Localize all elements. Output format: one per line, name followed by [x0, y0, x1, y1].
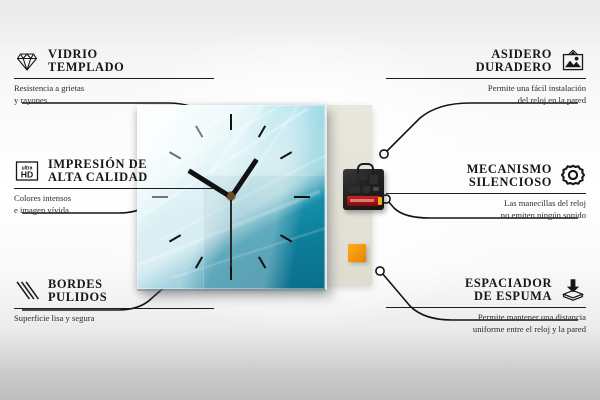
polished-edges-icon [14, 278, 40, 304]
feature-espaciador-de-espuma: ESPACIADOR DE ESPUMA Permite mantener un… [386, 277, 586, 335]
svg-text:HD: HD [21, 170, 33, 180]
mechanism-battery [347, 196, 380, 206]
connector-asidero [386, 103, 578, 152]
feature-title-line2: DE ESPUMA [465, 290, 552, 303]
feature-asidero-duradero: ASIDERO DURADERO Permite una fácil insta… [386, 48, 586, 106]
feature-mecanismo-silencioso: MECANISMO SILENCIOSO Las manecillas del … [386, 163, 586, 221]
clock-mechanism [343, 169, 384, 210]
feature-divider [14, 308, 214, 309]
feature-title-line2: TEMPLADO [48, 61, 124, 74]
feature-divider [386, 78, 586, 79]
feature-description: Permite mantener una distancia uniforme … [386, 312, 586, 335]
feature-divider [14, 78, 214, 79]
mechanism-hook [357, 163, 374, 174]
feature-description: Las manecillas del reloj no emiten ningú… [386, 198, 586, 221]
feature-description: Permite una fácil instalación del reloj … [386, 83, 586, 106]
feature-vidrio-templado: VIDRIO TEMPLADO Resistencia a grietas y … [14, 48, 214, 106]
picture-hanger-icon [560, 48, 586, 74]
gear-icon [560, 163, 586, 189]
feature-divider [386, 307, 586, 308]
foam-spacer-piece [348, 244, 366, 262]
feature-description: Resistencia a grietas y rayones [14, 83, 214, 106]
feature-title-line2: DURADERO [476, 61, 552, 74]
feature-title-line2: SILENCIOSO [467, 176, 552, 189]
battery-terminal [378, 197, 382, 205]
feature-divider [14, 188, 214, 189]
feature-title-line2: ALTA CALIDAD [48, 171, 148, 184]
feature-title-line2: PULIDOS [48, 291, 107, 304]
ultra-hd-icon: ultra HD [14, 158, 40, 184]
foam-spacer-icon [560, 277, 586, 303]
connector-dot-espaciador [376, 267, 384, 275]
feature-impresion-alta-calidad: ultra HD IMPRESIÓN DE ALTA CALIDAD Color… [14, 158, 214, 216]
infographic-canvas: VIDRIO TEMPLADO Resistencia a grietas y … [0, 0, 600, 400]
feature-divider [386, 193, 586, 194]
feature-description: Colores intensos e imagen vívida [14, 193, 214, 216]
feature-description: Superficie lisa y segura [14, 313, 214, 325]
diamond-icon [14, 48, 40, 74]
connector-dot-asidero [380, 150, 388, 158]
feature-bordes-pulidos: BORDES PULIDOS Superficie lisa y segura [14, 278, 214, 325]
